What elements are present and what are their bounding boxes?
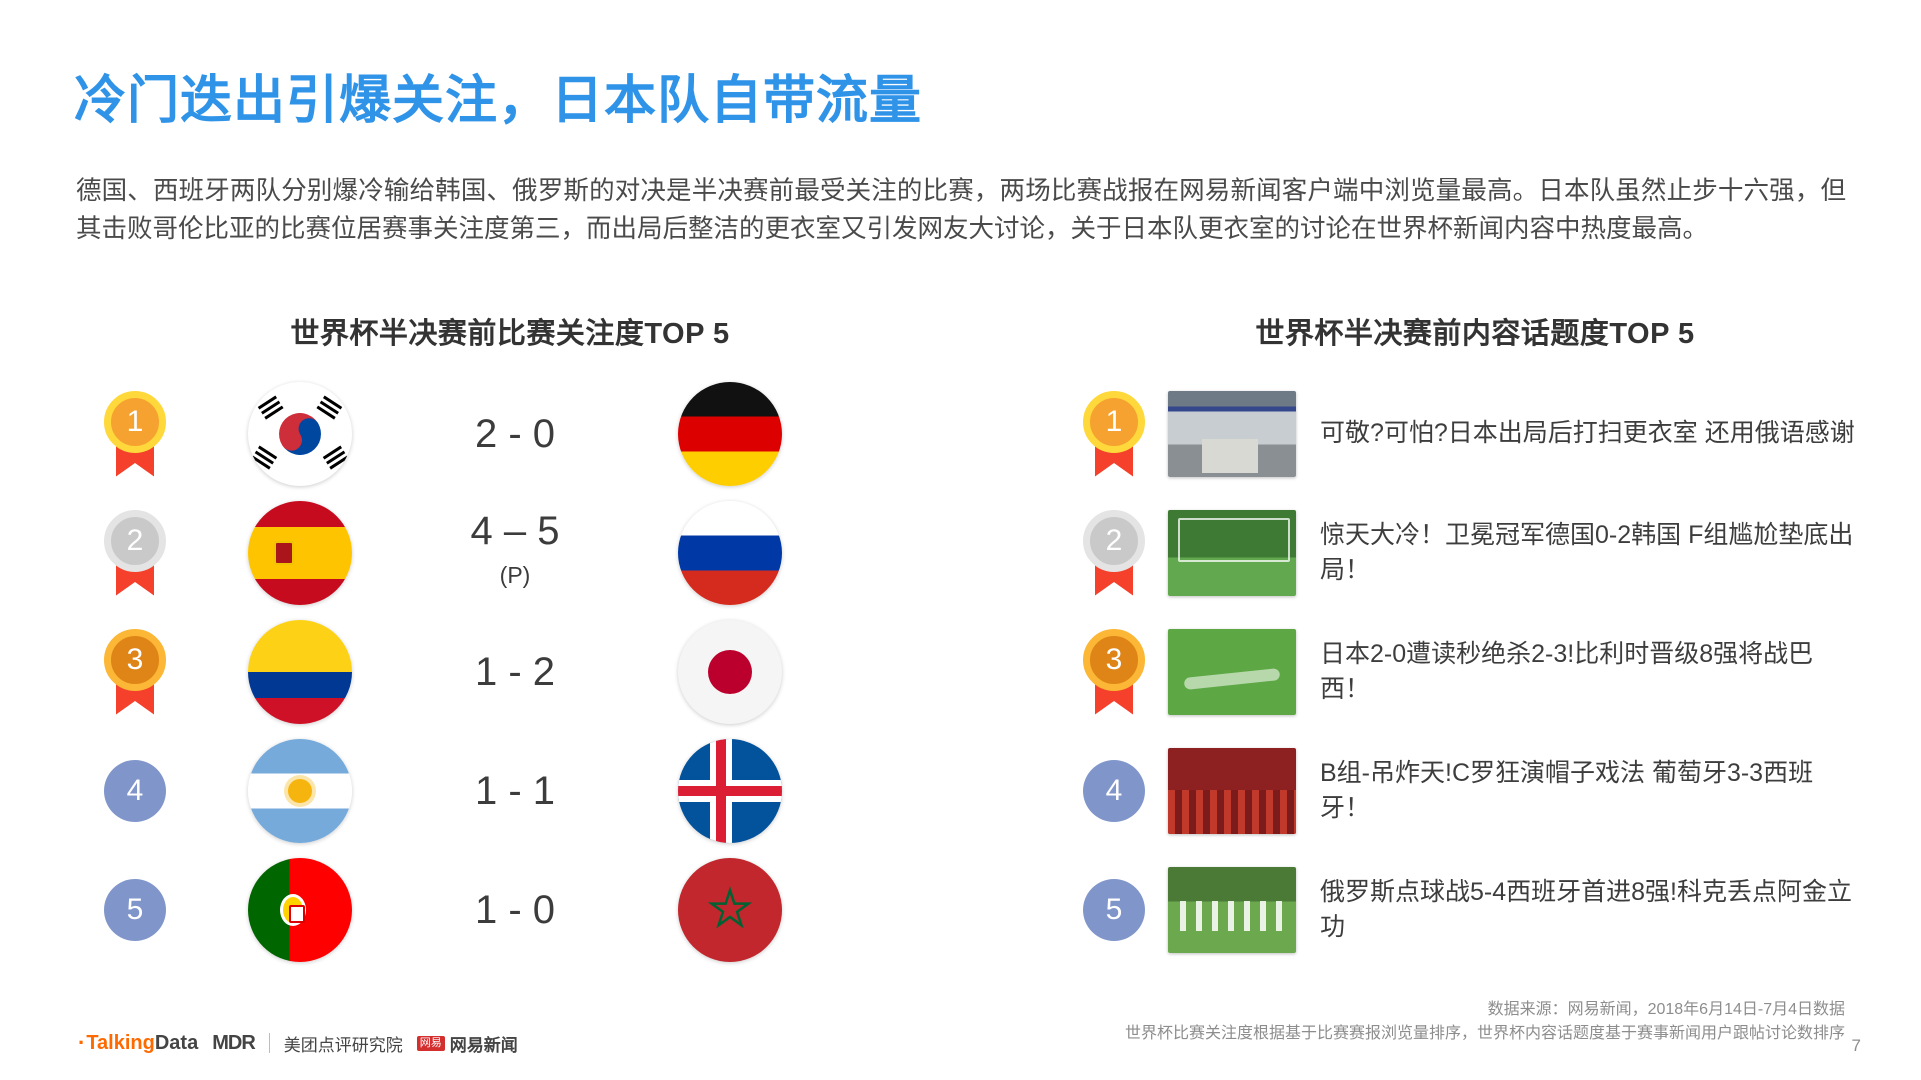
medal-gold-icon: 1 (1083, 391, 1145, 477)
medal-gold-icon: 1 (104, 391, 166, 477)
away-flag-cell (640, 620, 820, 724)
home-flag-cell (210, 501, 390, 605)
source-line-2: 世界杯比赛关注度根据基于比赛赛报浏览量排序，世界杯内容话题度基于赛事新闻用户跟帖… (1125, 1022, 1845, 1046)
talkingdata-word-1: Talking (86, 1032, 155, 1055)
news-list: 1 可敬?可怕?日本出局后打扫更衣室 还用俄语感谢 2 惊天大冷！卫冕冠军德国0… (1060, 374, 1890, 969)
medal-bronze-icon: 3 (1083, 629, 1145, 715)
table-row[interactable]: 2 4 – 5 (P) (60, 493, 960, 612)
rank-cell: 1 (1060, 391, 1168, 477)
rank-badge-5: 5 (1083, 879, 1145, 941)
table-row[interactable]: 3 1 - 2 (60, 612, 960, 731)
flag-colombia-icon (248, 620, 352, 724)
medal-bronze-icon: 3 (104, 629, 166, 715)
page-number: 7 (1852, 1036, 1861, 1056)
rank-cell: 5 (1060, 879, 1168, 941)
flag-germany-icon (678, 382, 782, 486)
rank-cell: 3 (1060, 629, 1168, 715)
source-line-1: 数据来源：网易新闻，2018年6月14日-7月4日数据 (1125, 998, 1845, 1022)
news-thumbnail-celebration[interactable] (1168, 867, 1296, 953)
list-item[interactable]: 4 B组-吊炸天!C罗狂演帽子戏法 葡萄牙3-3西班牙！ (1060, 731, 1890, 850)
rank-badge-4: 4 (104, 760, 166, 822)
match-score: 1 - 2 (390, 649, 640, 695)
score-text: 1 - 1 (475, 769, 555, 813)
home-flag-cell (210, 858, 390, 962)
flag-iceland-icon (678, 739, 782, 843)
news-thumbnail-red-crowd[interactable] (1168, 748, 1296, 834)
talkingdata-logo: · Talking Data (78, 1030, 198, 1056)
match-attention-panel: 世界杯半决赛前比赛关注度TOP 5 1 2 - 0 (60, 310, 960, 969)
home-flag-cell (210, 620, 390, 724)
rank-cell: 1 (60, 391, 210, 477)
flag-argentina-icon (248, 739, 352, 843)
rank-number: 2 (104, 510, 166, 572)
list-item[interactable]: 5 俄罗斯点球战5-4西班牙首进8强!科克丢点阿金立功 (1060, 850, 1890, 969)
match-score: 2 - 0 (390, 411, 640, 457)
score-text: 2 - 0 (475, 412, 555, 456)
content-topic-panel: 世界杯半决赛前内容话题度TOP 5 1 可敬?可怕?日本出局后打扫更衣室 还用俄… (1060, 310, 1890, 969)
flag-portugal-icon (248, 858, 352, 962)
list-item[interactable]: 1 可敬?可怕?日本出局后打扫更衣室 还用俄语感谢 (1060, 374, 1890, 493)
home-flag-cell (210, 382, 390, 486)
logo-bar: · Talking Data MDR 美团点评研究院 网易 网易新闻 (78, 1030, 518, 1056)
penalty-note: (P) (390, 552, 640, 598)
table-row[interactable]: 5 1 - 0 ★ (60, 850, 960, 969)
news-thumbnail-players-on-pitch[interactable] (1168, 629, 1296, 715)
flag-japan-icon (678, 620, 782, 724)
talkingdata-word-2: Data (155, 1032, 198, 1055)
score-text: 1 - 0 (475, 888, 555, 932)
flag-korea-icon (248, 382, 352, 486)
rank-cell: 5 (60, 879, 210, 941)
score-text: 4 – 5 (471, 509, 560, 553)
rank-badge-4: 4 (1083, 760, 1145, 822)
netease-badge-icon: 网易 (417, 1036, 445, 1051)
rank-badge-5: 5 (104, 879, 166, 941)
table-row[interactable]: 4 1 - 1 (60, 731, 960, 850)
rank-number: 2 (1083, 510, 1145, 572)
news-thumbnail-locker-room[interactable] (1168, 391, 1296, 477)
table-row[interactable]: 1 2 - 0 (60, 374, 960, 493)
news-headline[interactable]: 俄罗斯点球战5-4西班牙首进8强!科克丢点阿金立功 (1320, 875, 1860, 945)
netease-logo: 网易 网易新闻 (417, 1031, 518, 1056)
netease-label: 网易新闻 (450, 1031, 518, 1056)
logo-divider (269, 1033, 270, 1053)
match-score: 4 – 5 (P) (390, 508, 640, 598)
page-title: 冷门迭出引爆关注，日本队自带流量 (74, 58, 922, 133)
flag-russia-icon (678, 501, 782, 605)
match-score: 1 - 1 (390, 768, 640, 814)
match-list: 1 2 - 0 2 (60, 374, 960, 969)
rank-cell: 3 (60, 629, 210, 715)
news-headline[interactable]: 可敬?可怕?日本出局后打扫更衣室 还用俄语感谢 (1320, 416, 1860, 451)
news-headline[interactable]: B组-吊炸天!C罗狂演帽子戏法 葡萄牙3-3西班牙！ (1320, 756, 1860, 826)
score-text: 1 - 2 (475, 650, 555, 694)
news-thumbnail-goal-save[interactable] (1168, 510, 1296, 596)
rank-cell: 4 (1060, 760, 1168, 822)
flag-morocco-icon: ★ (678, 858, 782, 962)
meituan-research-logo: 美团点评研究院 (284, 1031, 403, 1056)
flag-spain-icon (248, 501, 352, 605)
away-flag-cell (640, 501, 820, 605)
talkingdata-dot: · (78, 1030, 85, 1056)
home-flag-cell (210, 739, 390, 843)
medal-silver-icon: 2 (1083, 510, 1145, 596)
rank-number: 1 (1083, 391, 1145, 453)
source-note: 数据来源：网易新闻，2018年6月14日-7月4日数据 世界杯比赛关注度根据基于… (1125, 998, 1845, 1046)
list-item[interactable]: 3 日本2-0遭读秒绝杀2-3!比利时晋级8强将战巴西！ (1060, 612, 1890, 731)
rank-number: 1 (104, 391, 166, 453)
news-headline[interactable]: 惊天大冷！卫冕冠军德国0-2韩国 F组尴尬垫底出局！ (1320, 518, 1860, 588)
away-flag-cell (640, 382, 820, 486)
rank-cell: 2 (60, 510, 210, 596)
intro-paragraph: 德国、西班牙两队分别爆冷输给韩国、俄罗斯的对决是半决赛前最受关注的比赛，两场比赛… (76, 172, 1846, 248)
rank-number: 3 (1083, 629, 1145, 691)
list-item[interactable]: 2 惊天大冷！卫冕冠军德国0-2韩国 F组尴尬垫底出局！ (1060, 493, 1890, 612)
match-score: 1 - 0 (390, 887, 640, 933)
left-panel-heading: 世界杯半决赛前比赛关注度TOP 5 (60, 310, 960, 352)
rank-cell: 2 (1060, 510, 1168, 596)
away-flag-cell (640, 739, 820, 843)
rank-number: 3 (104, 629, 166, 691)
away-flag-cell: ★ (640, 858, 820, 962)
rank-cell: 4 (60, 760, 210, 822)
news-headline[interactable]: 日本2-0遭读秒绝杀2-3!比利时晋级8强将战巴西！ (1320, 637, 1860, 707)
right-panel-heading: 世界杯半决赛前内容话题度TOP 5 (1060, 310, 1890, 352)
medal-silver-icon: 2 (104, 510, 166, 596)
mdr-logo: MDR (212, 1032, 255, 1055)
